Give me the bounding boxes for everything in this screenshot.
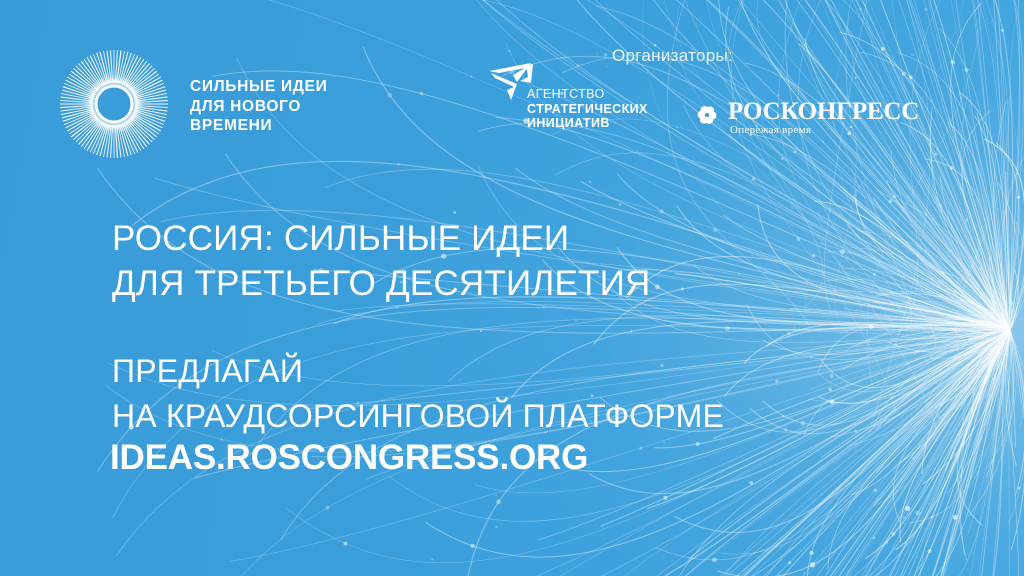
strong-ideas-wordmark: СИЛЬНЫЕ ИДЕИ ДЛЯ НОВОГО ВРЕМЕНИ: [190, 77, 327, 136]
asi-logo: АГЕНТСТВО СТРАТЕГИЧЕСКИХ ИНИЦИАТИВ: [487, 62, 662, 140]
strong-ideas-logo: СИЛЬНЫЕ ИДЕИ ДЛЯ НОВОГО ВРЕМЕНИ: [58, 48, 348, 160]
slide-headline: РОССИЯ: СИЛЬНЫЕ ИДЕИ ДЛЯ ТРЕТЬЕГО ДЕСЯТИ…: [112, 216, 650, 306]
subheadline-line-1: ПРЕДЛАГАЙ: [112, 349, 724, 394]
slide-header: СИЛЬНЫЕ ИДЕИ ДЛЯ НОВОГО ВРЕМЕНИ Организа…: [0, 0, 1024, 170]
slide-subheadline: ПРЕДЛАГАЙ НА КРАУДСОРСИНГОВОЙ ПЛАТФОРМЕ: [112, 349, 724, 439]
subheadline-line-2: НА КРАУДСОРСИНГОВОЙ ПЛАТФОРМЕ: [112, 394, 724, 439]
roscongress-pinwheel-icon: [692, 101, 722, 129]
headline-line-1: РОССИЯ: СИЛЬНЫЕ ИДЕИ: [112, 216, 650, 261]
asi-line-1: АГЕНТСТВО: [527, 87, 648, 102]
roscongress-name: РОСКОНГРЕСС: [728, 98, 919, 126]
strong-ideas-line-2: ДЛЯ НОВОГО: [190, 98, 301, 115]
sunburst-ring-icon: [58, 48, 170, 160]
roscongress-logo: РОСКОНГРЕСС Опережая время: [692, 100, 867, 140]
strong-ideas-line-1: СИЛЬНЫЕ ИДЕИ: [190, 78, 327, 95]
roscongress-tagline: Опережая время: [730, 124, 811, 136]
asi-wordmark: АГЕНТСТВО СТРАТЕГИЧЕСКИХ ИНИЦИАТИВ: [527, 87, 648, 131]
asi-line-3: ИНИЦИАТИВ: [527, 116, 648, 131]
asi-line-2: СТРАТЕГИЧЕСКИХ: [527, 102, 648, 117]
presentation-slide: СИЛЬНЫЕ ИДЕИ ДЛЯ НОВОГО ВРЕМЕНИ Организа…: [0, 0, 1024, 576]
headline-line-2: ДЛЯ ТРЕТЬЕГО ДЕСЯТИЛЕТИЯ: [112, 261, 650, 306]
strong-ideas-line-3: ВРЕМЕНИ: [190, 117, 272, 134]
platform-url[interactable]: IDEAS.ROSCONGRESS.ORG: [110, 437, 588, 479]
